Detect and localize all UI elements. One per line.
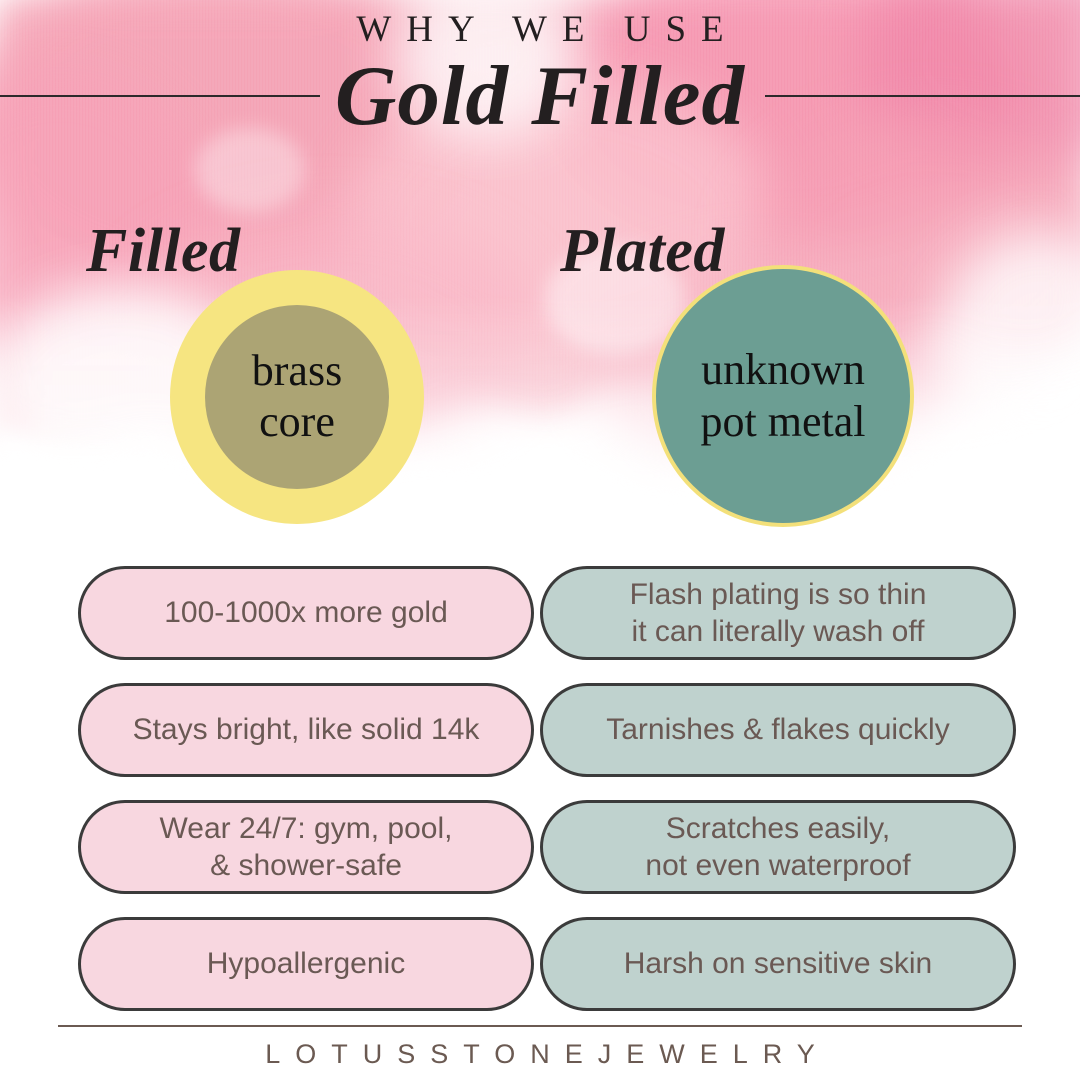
- wash-highlight-right: [935, 230, 1080, 460]
- pot-metal-label: unknown pot metal: [701, 344, 866, 448]
- brass-core-label: brass core: [252, 346, 342, 447]
- page-title: Gold Filled: [0, 52, 1080, 141]
- pill-filled-benefit-4[interactable]: Hypoallergenic: [78, 917, 534, 1011]
- comparison-row: 100-1000x more gold Flash plating is so …: [0, 566, 1080, 664]
- infographic-canvas: WHY WE USE Gold Filled Filled Plated bra…: [0, 0, 1080, 1080]
- pill-plated-drawback-2[interactable]: Tarnishes & flakes quickly: [540, 683, 1016, 777]
- pill-filled-benefit-2[interactable]: Stays bright, like solid 14k: [78, 683, 534, 777]
- brand-name: LOTUSSTONEJEWELRY: [0, 1039, 1080, 1070]
- pot-metal-circle: unknown pot metal: [652, 265, 914, 527]
- pill-plated-drawback-1[interactable]: Flash plating is so thin it can literall…: [540, 566, 1016, 660]
- brass-core-circle: brass core: [205, 305, 389, 489]
- comparison-grid: 100-1000x more gold Flash plating is so …: [0, 566, 1080, 1034]
- comparison-row: Stays bright, like solid 14k Tarnishes &…: [0, 683, 1080, 781]
- eyebrow-text: WHY WE USE: [0, 8, 1080, 51]
- pill-filled-benefit-1[interactable]: 100-1000x more gold: [78, 566, 534, 660]
- pill-plated-drawback-3[interactable]: Scratches easily, not even waterproof: [540, 800, 1016, 894]
- comparison-row: Wear 24/7: gym, pool, & shower-safe Scra…: [0, 800, 1080, 898]
- footer-divider: [58, 1025, 1022, 1027]
- column-heading-filled: Filled: [86, 216, 241, 287]
- column-heading-plated: Plated: [560, 216, 725, 287]
- pill-filled-benefit-3[interactable]: Wear 24/7: gym, pool, & shower-safe: [78, 800, 534, 894]
- wash-bottom-edge: [0, 430, 1080, 540]
- comparison-row: Hypoallergenic Harsh on sensitive skin: [0, 917, 1080, 1015]
- pill-plated-drawback-4[interactable]: Harsh on sensitive skin: [540, 917, 1016, 1011]
